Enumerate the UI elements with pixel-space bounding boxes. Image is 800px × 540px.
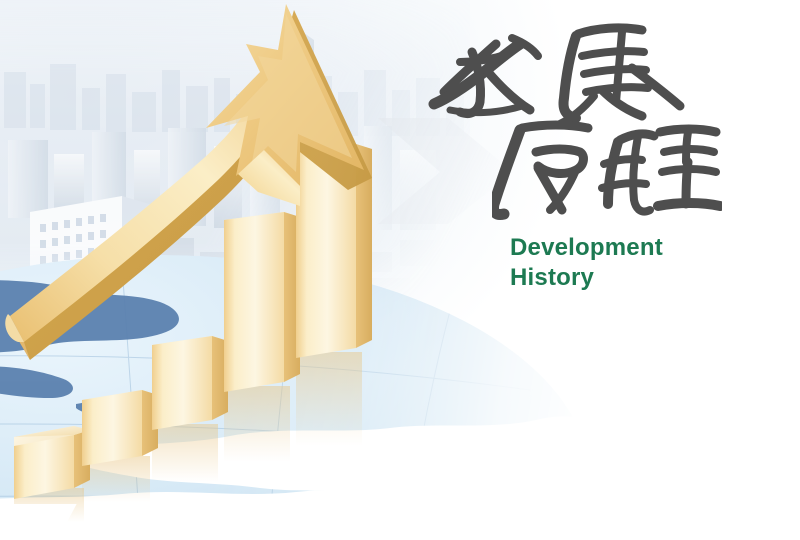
development-history-banner: Development History (0, 0, 800, 540)
headline-cn-line2 (420, 118, 770, 223)
bottom-white-band (0, 529, 800, 540)
headline-cn-line1 (420, 18, 770, 128)
title-block: Development History (420, 18, 770, 293)
headline-en: Development History (510, 233, 770, 293)
